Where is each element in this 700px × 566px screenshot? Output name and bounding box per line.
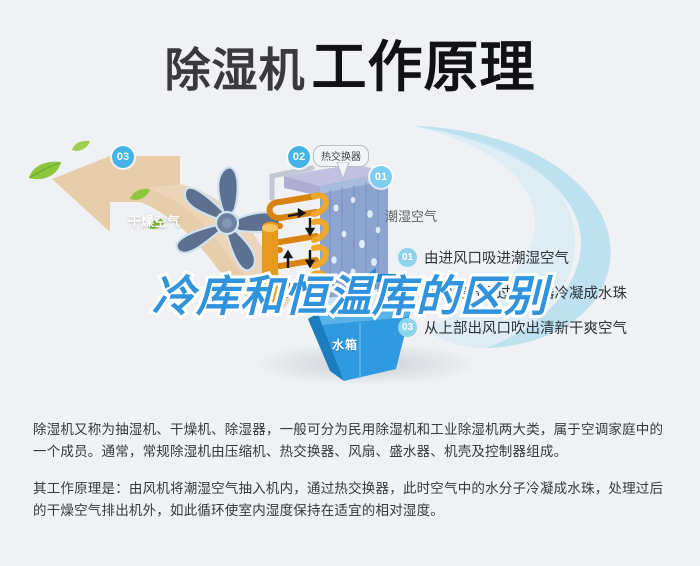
step-text-03: 从上部出风口吹出清新干爽空气 xyxy=(424,317,627,338)
leaf-icon xyxy=(72,140,90,153)
process-step-list: 01 由进风口吸进潮湿空气 02 潮湿空气经过蒸发器冷凝成水珠 03 从上部出风… xyxy=(398,246,698,351)
step-badge-03: 03 xyxy=(398,318,417,337)
diagram-badge-03: 03 xyxy=(112,146,134,168)
list-item: 01 由进风口吸进潮湿空气 xyxy=(398,246,698,268)
step-text-02: 潮湿空气经过蒸发器冷凝成水珠 xyxy=(424,282,627,303)
paragraph-1: 除湿机又称为抽湿机、干燥机、除湿器，一般可分为民用除湿机和工业除湿机两大类，属于… xyxy=(33,419,673,463)
page-root: 除湿机工作原理 xyxy=(0,0,700,566)
diagram-badge-01: 01 xyxy=(370,166,392,188)
diagram-badge-02: 02 xyxy=(288,146,310,168)
dry-air-label: 干燥空气 xyxy=(128,211,180,230)
leaf-icon xyxy=(28,160,62,182)
list-item: 03 从上部出风口吹出清新干爽空气 xyxy=(398,316,698,338)
leaf-icon xyxy=(130,188,150,202)
page-title-part1: 除湿机 xyxy=(164,44,305,96)
humid-air-label: 潮湿空气 xyxy=(385,206,437,225)
step-badge-01: 01 xyxy=(398,248,417,267)
page-title-part2: 工作原理 xyxy=(311,36,535,98)
step-text-01: 由进风口吸进潮湿空气 xyxy=(424,247,569,268)
callout-pointer-icon xyxy=(336,162,350,180)
list-item: 02 潮湿空气经过蒸发器冷凝成水珠 xyxy=(398,281,698,303)
paragraph-2: 其工作原理是：由风机将潮湿空气抽入机内，通过热交换器，此时空气中的水分子冷凝成水… xyxy=(33,478,673,522)
water-tank-label: 水箱 xyxy=(332,336,358,353)
page-title: 除湿机工作原理 xyxy=(0,22,700,102)
step-badge-02: 02 xyxy=(398,283,417,302)
body-copy: 除湿机又称为抽湿机、干燥机、除湿器，一般可分为民用除湿机和工业除湿机两大类，属于… xyxy=(33,419,673,537)
